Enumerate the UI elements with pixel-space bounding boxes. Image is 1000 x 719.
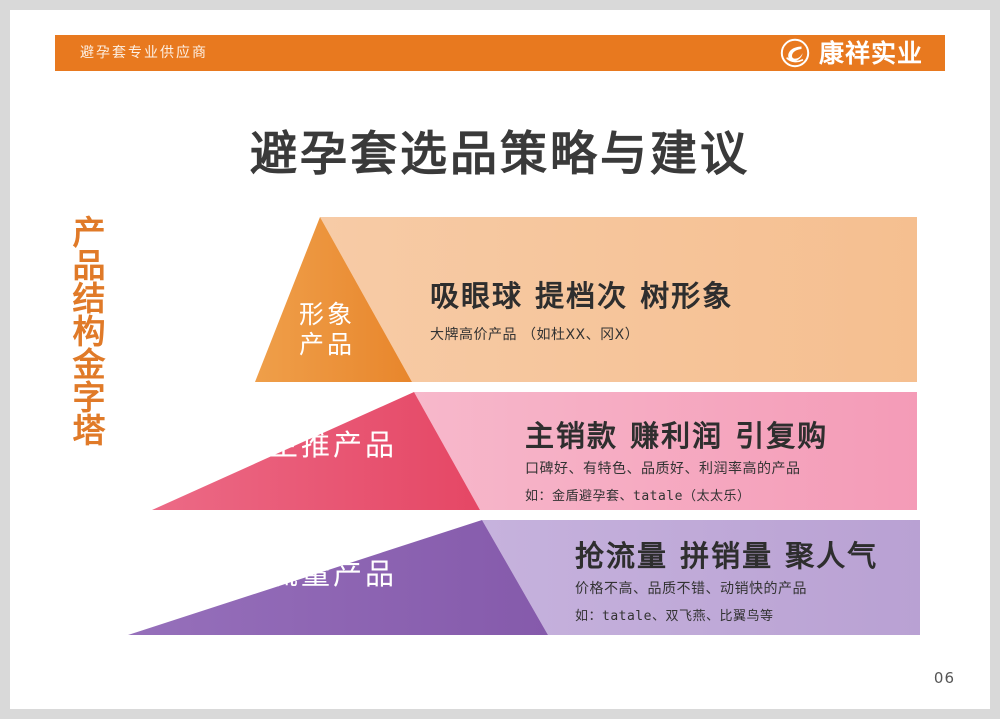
tier-3-detail-1: 价格不高、品质不错、动销快的产品: [575, 578, 878, 602]
header-bar: 避孕套专业供应商 康祥实业: [55, 35, 945, 71]
tier-2-detail-2: 如：金盾避孕套、tatale（太太乐）: [525, 486, 828, 508]
swirl-leaf-circle-icon: [780, 38, 810, 68]
tier-1-headline: 吸眼球 提档次 树形象: [430, 278, 733, 314]
tier-3-detail-2: 如：tatale、双飞燕、比翼鸟等: [575, 606, 878, 628]
page-number: 06: [934, 669, 955, 687]
tier-3-headline: 抢流量 拼销量 聚人气: [575, 538, 878, 574]
tier-1-caption: 形象 产品: [275, 300, 379, 359]
header-tagline: 避孕套专业供应商: [80, 35, 208, 71]
brand-name: 康祥实业: [819, 41, 923, 66]
tier-1-caption-line-2: 产品: [275, 330, 379, 360]
tier-1-detail-1: 大牌高价产品 （如杜XX、冈X）: [430, 324, 733, 348]
brand-lockup: 康祥实业: [780, 35, 923, 71]
side-vertical-label: 产品结构金字塔: [62, 215, 106, 446]
tier-1-body: 吸眼球 提档次 树形象 大牌高价产品 （如杜XX、冈X）: [430, 278, 733, 348]
page-title: 避孕套选品策略与建议: [10, 115, 990, 184]
tier-2-headline: 主销款 赚利润 引复购: [525, 418, 828, 454]
tier-3-caption: 流量产品: [238, 557, 428, 591]
slide-canvas: 避孕套专业供应商 康祥实业 避孕套选品策略与建议 产品结构金字塔: [10, 10, 990, 709]
tier-2-detail-1: 口碑好、有特色、品质好、利润率高的产品: [525, 458, 828, 482]
tier-2-caption: 主推产品: [238, 428, 428, 462]
tier-3-body: 抢流量 拼销量 聚人气 价格不高、品质不错、动销快的产品 如：tatale、双飞…: [575, 538, 878, 628]
tier-2-body: 主销款 赚利润 引复购 口碑好、有特色、品质好、利润率高的产品 如：金盾避孕套、…: [525, 418, 828, 508]
tier-1-caption-line-1: 形象: [275, 300, 379, 330]
